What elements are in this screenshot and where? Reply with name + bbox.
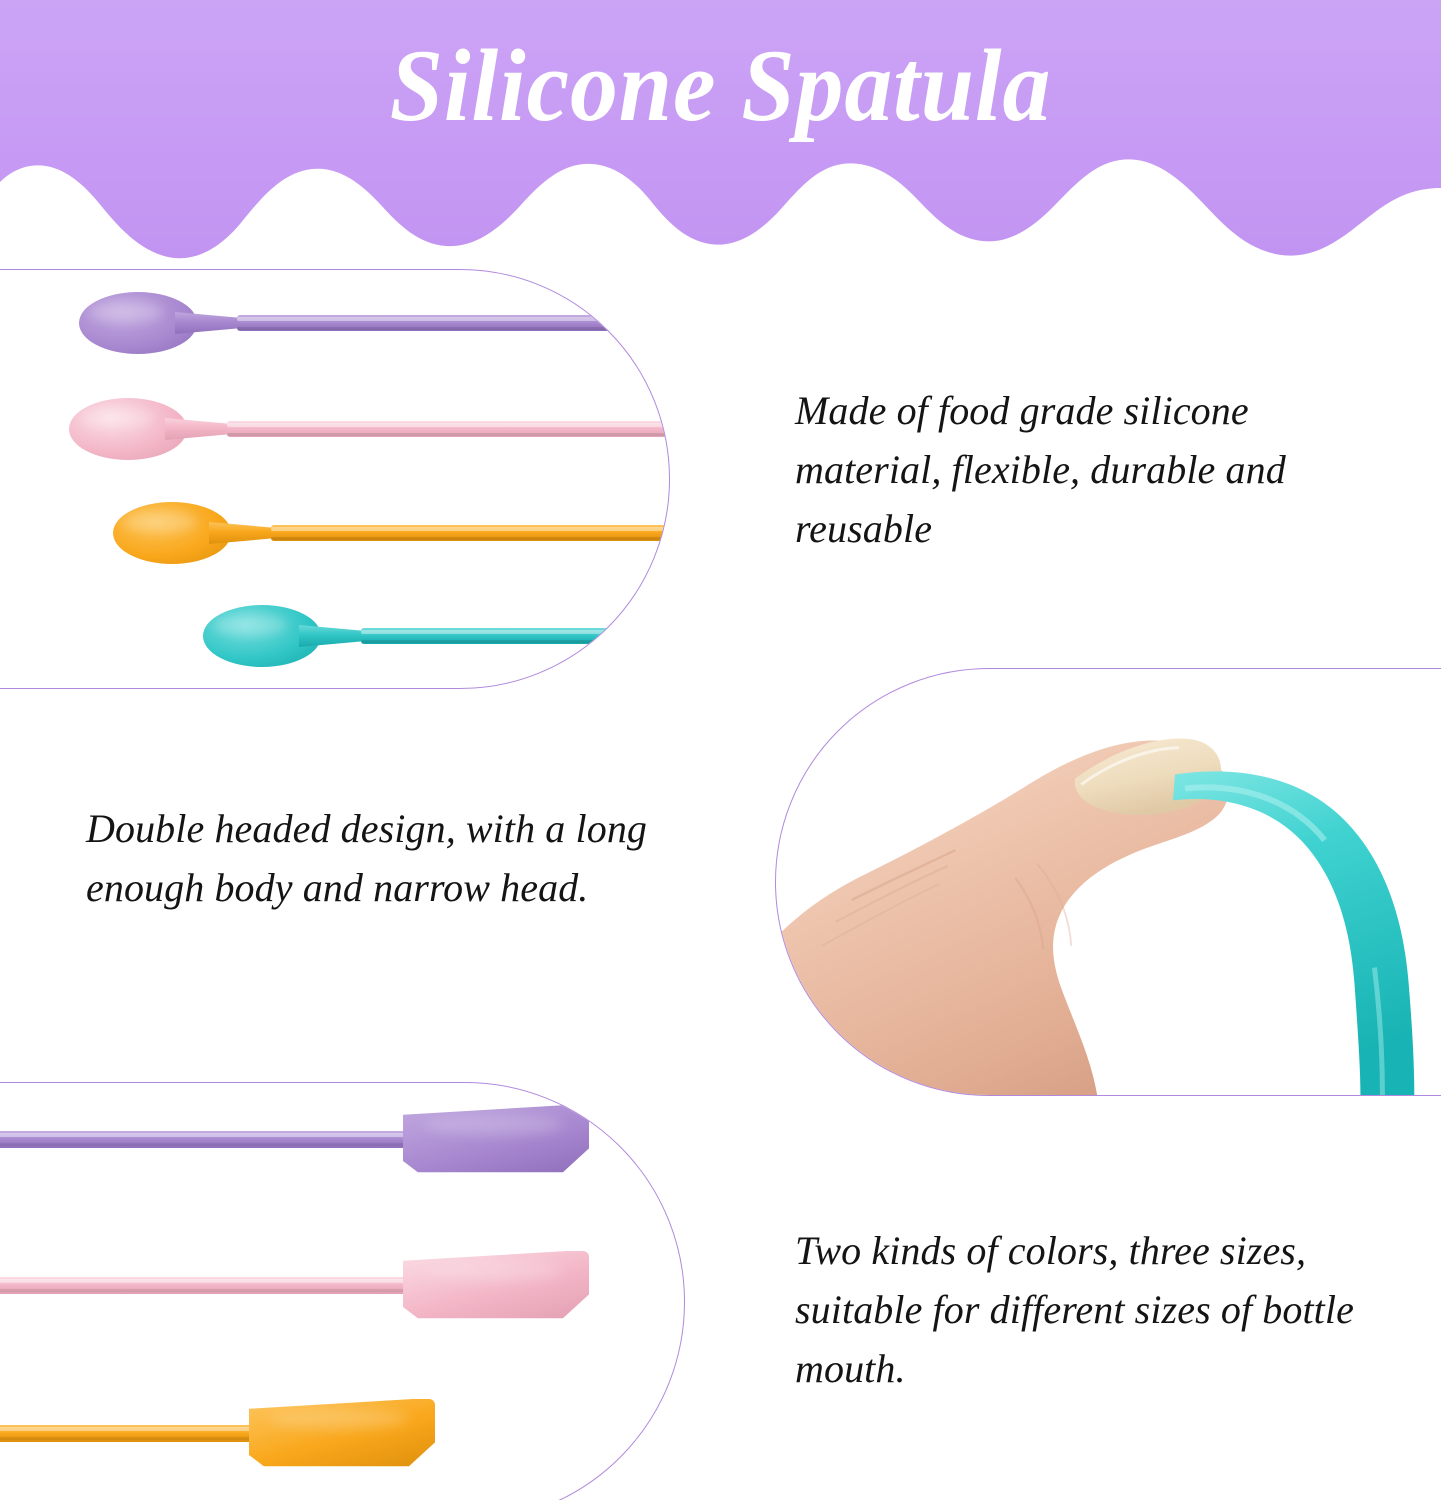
spoon-handle-highlight — [271, 527, 670, 531]
feature-text-material: Made of food grade silicone material, fl… — [795, 382, 1395, 558]
spatula-shaft-highlight — [0, 1279, 411, 1283]
panel-bending-demo — [775, 668, 1441, 1096]
spoon-group — [0, 270, 669, 688]
spatula-shaft-shadow — [0, 1437, 257, 1440]
spoon-head-gloss — [213, 614, 287, 636]
spoon-handle-highlight — [361, 630, 670, 634]
spoon-neck-orange — [209, 521, 279, 545]
spatula-blade-gloss — [423, 1115, 563, 1135]
spoon-neck-pink — [165, 417, 235, 441]
spatula-shaft-shadow — [0, 1143, 411, 1146]
spoon-handle-shadow — [361, 640, 670, 643]
header-banner: Silicone Spatula — [0, 0, 1441, 262]
infographic-page: Silicone Spatula — [0, 0, 1441, 1500]
finger-bending-spatula-illustration — [776, 669, 1441, 1095]
spoon-handle-shadow — [227, 433, 670, 436]
feature-text-colors: Two kinds of colors, three sizes, suitab… — [795, 1222, 1395, 1398]
spatula-group — [0, 1083, 684, 1500]
spoon-handle-shadow — [237, 327, 670, 330]
spatula-blade-gloss — [269, 1409, 409, 1429]
spoon-handle-shadow — [271, 537, 670, 540]
panel-spatula-blades — [0, 1082, 685, 1500]
spoon-head-gloss — [89, 301, 163, 323]
spoon-neck-teal — [299, 624, 369, 648]
panel-spoon-heads — [0, 269, 670, 689]
spoon-neck-purple — [175, 311, 245, 335]
spoon-head-gloss — [79, 407, 153, 429]
spatula-shaft-highlight — [0, 1133, 411, 1137]
spatula-blade-gloss — [423, 1261, 563, 1281]
page-title: Silicone Spatula — [50, 22, 1390, 151]
spoon-handle-highlight — [227, 423, 670, 427]
spatula-shaft-highlight — [0, 1427, 257, 1431]
spoon-handle-highlight — [237, 317, 670, 321]
feature-text-design: Double headed design, with a long enough… — [86, 800, 686, 918]
spatula-shaft-shadow — [0, 1289, 411, 1292]
spoon-head-gloss — [123, 511, 197, 533]
